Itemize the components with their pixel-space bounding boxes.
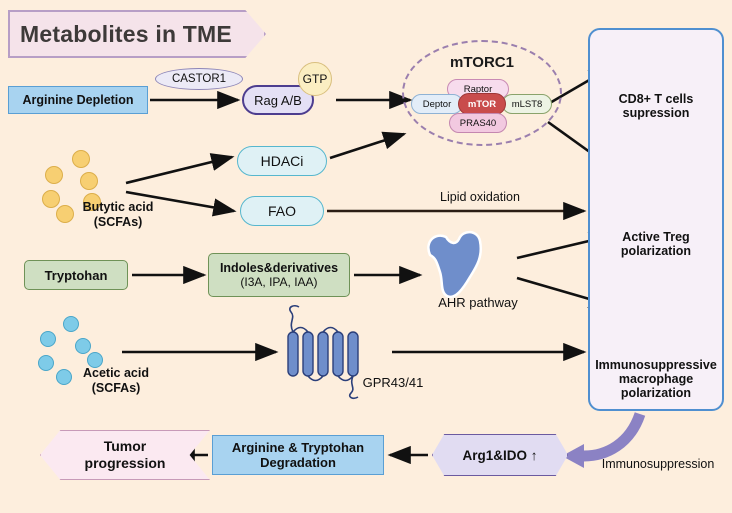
node-fao-label: FAO xyxy=(268,203,296,219)
node-indoles[interactable]: Indoles&derivatives (I3A, IPA, IAA) xyxy=(208,253,350,297)
node-tryptohan-label: Tryptohan xyxy=(45,268,108,283)
node-arginine-depletion-label: Arginine Depletion xyxy=(22,93,133,107)
label-gpr: GPR43/41 xyxy=(350,375,436,390)
node-tryptohan[interactable]: Tryptohan xyxy=(24,260,128,290)
gpr-receptor-icon xyxy=(288,306,358,398)
molecule-dot xyxy=(40,331,56,347)
label-immunosuppression-text: Immunosuppression xyxy=(602,457,715,471)
label-ahr-pathway: AHR pathway xyxy=(418,295,538,310)
label-acetic-acid: Acetic acid (SCFAs) xyxy=(56,366,176,396)
label-acetic-acid-line1: Acetic acid xyxy=(56,366,176,381)
mtorc1-title-label: mTORC1 xyxy=(450,54,514,71)
arrow-hdaci-to-mtorc1 xyxy=(330,134,404,158)
node-arg-tryp-degradation[interactable]: Arginine & Tryptohan Degradation xyxy=(212,435,384,475)
node-castor1[interactable]: CASTOR1 xyxy=(155,68,243,90)
node-rag-ab-label: Rag A/B xyxy=(254,93,302,108)
node-tumor-progression[interactable]: Tumor progression xyxy=(40,430,210,480)
node-gtp-label: GTP xyxy=(303,72,328,86)
node-degradation-line2: Degradation xyxy=(260,455,336,470)
node-hdaci[interactable]: HDACi xyxy=(237,146,327,176)
node-indoles-sublabel: (I3A, IPA, IAA) xyxy=(240,275,317,289)
node-fao[interactable]: FAO xyxy=(240,196,324,226)
node-deptor-label: Deptor xyxy=(423,99,452,110)
label-immunosuppression: Immunosuppression xyxy=(588,457,728,471)
label-macrophage-outcome: Immunosuppressive macrophage polarizatio… xyxy=(588,358,724,400)
node-hdaci-label: HDACi xyxy=(261,153,304,169)
label-acetic-acid-line2: (SCFAs) xyxy=(56,381,176,396)
immunosuppression-arrow-shaft xyxy=(584,414,640,456)
node-deptor[interactable]: Deptor xyxy=(411,94,463,114)
label-butyric-acid: Butytic acid (SCFAs) xyxy=(58,200,178,230)
label-treg-line2: polarization xyxy=(588,244,724,258)
node-gtp[interactable]: GTP xyxy=(298,62,332,96)
node-arginine-depletion[interactable]: Arginine Depletion xyxy=(8,86,148,114)
node-tumor-progression-line1: Tumor xyxy=(104,438,147,455)
node-mlst8-label: mLST8 xyxy=(512,99,543,110)
mtorc1-title: mTORC1 xyxy=(402,52,562,72)
label-butyric-acid-line2: (SCFAs) xyxy=(58,215,178,230)
molecule-dot xyxy=(80,172,98,190)
node-mlst8[interactable]: mLST8 xyxy=(502,94,552,114)
label-treg-outcome: Active Treg polarization xyxy=(588,230,724,258)
page-title: Metabolites in TME xyxy=(8,10,266,58)
label-cd8-outcome: CD8+ T cells supression xyxy=(588,92,724,120)
diagram-canvas: Metabolites in TME Arginine Depletion CA… xyxy=(0,0,732,513)
node-mtor-label: mTOR xyxy=(468,99,496,110)
immune-outcome-panel xyxy=(588,28,724,411)
node-mtor[interactable]: mTOR xyxy=(458,93,506,115)
molecule-dot xyxy=(45,166,63,184)
label-cd8-line1: CD8+ T cells xyxy=(588,92,724,106)
node-pras40[interactable]: PRAS40 xyxy=(449,113,507,133)
molecule-dot xyxy=(75,338,91,354)
node-pras40-label: PRAS40 xyxy=(460,118,496,129)
label-macrophage-line1: Immunosuppressive xyxy=(588,358,724,372)
molecule-dot xyxy=(38,355,54,371)
label-cd8-line2: supression xyxy=(588,106,724,120)
node-arg1-ido-label: Arg1&IDO ↑ xyxy=(462,448,537,463)
page-title-text: Metabolites in TME xyxy=(20,21,232,48)
label-macrophage-line2: macrophage xyxy=(588,372,724,386)
molecule-dot xyxy=(72,150,90,168)
label-ahr-pathway-text: AHR pathway xyxy=(438,295,517,310)
node-indoles-label: Indoles&derivatives xyxy=(220,261,338,275)
label-lipid-oxidation-text: Lipid oxidation xyxy=(440,190,520,204)
ahr-blob-icon xyxy=(428,232,480,297)
label-butyric-acid-line1: Butytic acid xyxy=(58,200,178,215)
molecule-dot xyxy=(63,316,79,332)
label-macrophage-line3: polarization xyxy=(588,386,724,400)
label-gpr-text: GPR43/41 xyxy=(363,375,424,390)
node-degradation-line1: Arginine & Tryptohan xyxy=(232,440,364,455)
node-arg1-ido[interactable]: Arg1&IDO ↑ xyxy=(432,434,568,476)
node-tumor-progression-line2: progression xyxy=(85,455,166,472)
arrow-butyrate-to-hdaci xyxy=(126,157,232,183)
node-castor1-label: CASTOR1 xyxy=(172,73,226,85)
label-treg-line1: Active Treg xyxy=(588,230,724,244)
label-lipid-oxidation: Lipid oxidation xyxy=(420,190,540,204)
